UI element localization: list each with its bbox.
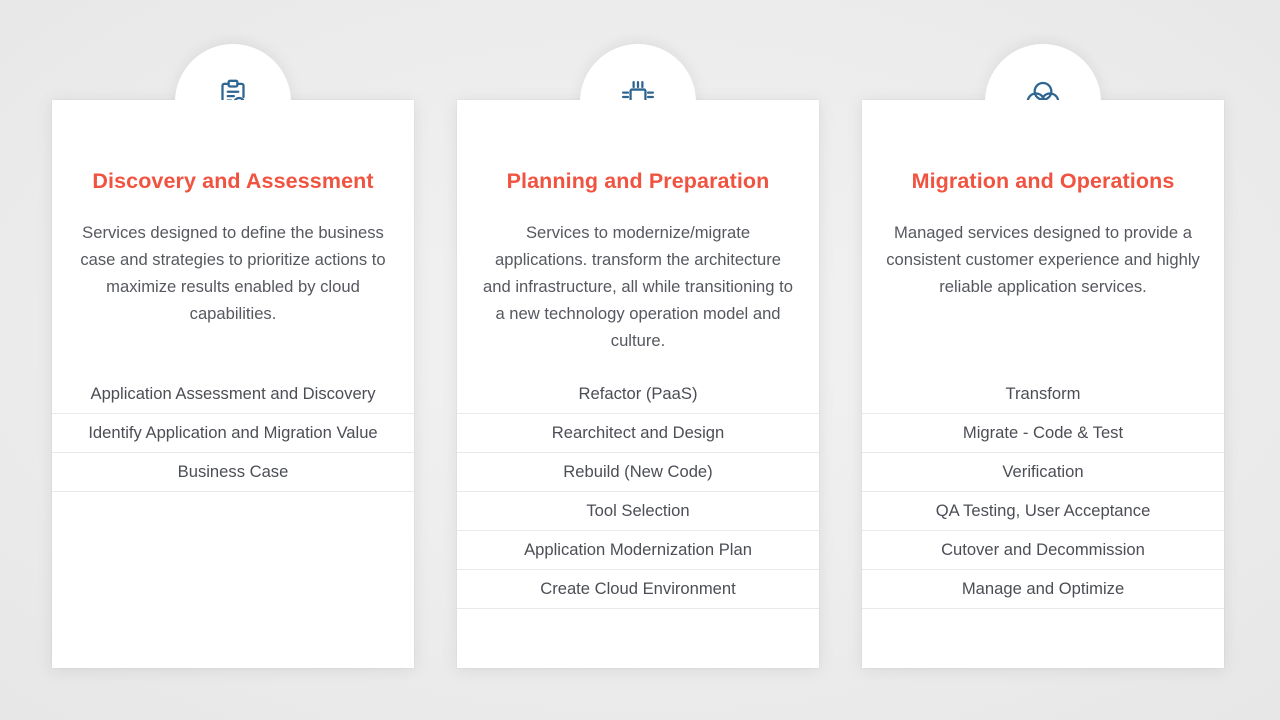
list-item[interactable]: Business Case (52, 453, 414, 492)
list-item[interactable]: Application Modernization Plan (457, 531, 819, 570)
list-item[interactable]: Migrate - Code & Test (862, 414, 1224, 453)
list-item[interactable]: Identify Application and Migration Value (52, 414, 414, 453)
list-item[interactable]: Rearchitect and Design (457, 414, 819, 453)
spacer (457, 354, 819, 375)
card-title: Planning and Preparation (457, 100, 819, 195)
list-item[interactable]: Application Assessment and Discovery (52, 375, 414, 414)
list-item[interactable]: Manage and Optimize (862, 570, 1224, 609)
list-item[interactable]: Refactor (PaaS) (457, 375, 819, 414)
card-item-list: Refactor (PaaS) Rearchitect and Design R… (457, 375, 819, 609)
card-title: Discovery and Assessment (52, 100, 414, 195)
list-item[interactable]: QA Testing, User Acceptance (862, 492, 1224, 531)
spacer (862, 300, 1224, 375)
list-item[interactable]: Tool Selection (457, 492, 819, 531)
card-description: Managed services designed to provide a c… (862, 195, 1224, 300)
list-item[interactable]: Rebuild (New Code) (457, 453, 819, 492)
list-item[interactable]: Cutover and Decommission (862, 531, 1224, 570)
list-item[interactable]: Verification (862, 453, 1224, 492)
list-item[interactable]: Transform (862, 375, 1224, 414)
card-description: Services to modernize/migrate applicatio… (457, 195, 819, 354)
phase-card-discovery-and-assessment[interactable]: Discovery and Assessment Services design… (52, 100, 414, 668)
card-item-list: Application Assessment and Discovery Ide… (52, 375, 414, 492)
phase-card-planning-and-preparation[interactable]: Planning and Preparation Services to mod… (457, 100, 819, 668)
phase-card-migration-and-operations[interactable]: Migration and Operations Managed service… (862, 100, 1224, 668)
list-item[interactable]: Create Cloud Environment (457, 570, 819, 609)
spacer (52, 327, 414, 375)
card-item-list: Transform Migrate - Code & Test Verifica… (862, 375, 1224, 609)
card-description: Services designed to define the business… (52, 195, 414, 327)
diagram-canvas: Discovery and Assessment Services design… (0, 0, 1280, 720)
card-title: Migration and Operations (862, 100, 1224, 195)
